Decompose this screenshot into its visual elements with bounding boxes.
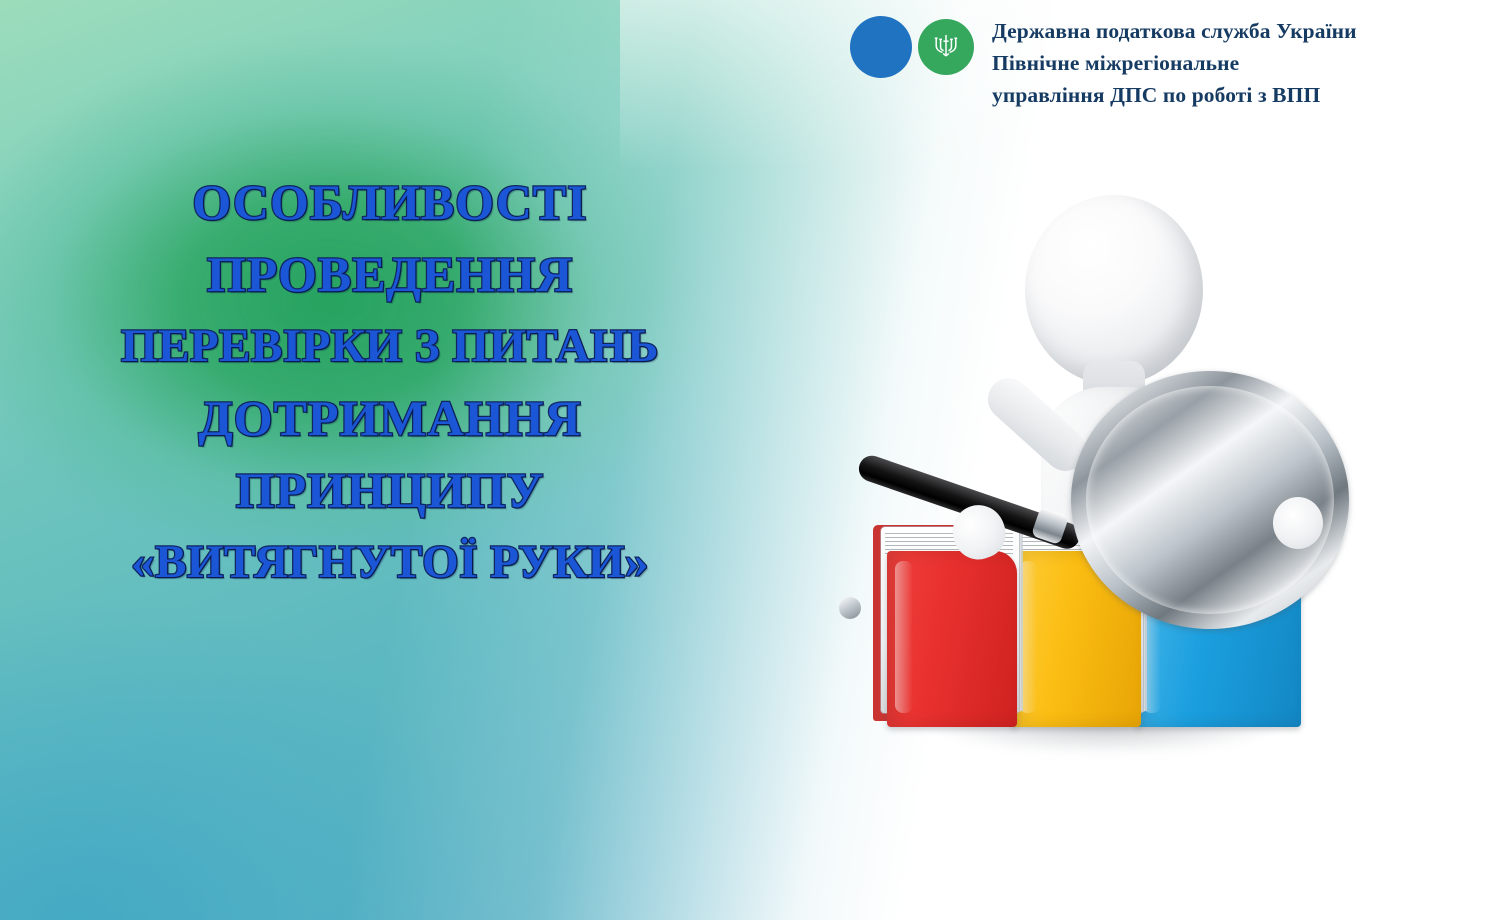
- title-line-4: ДОТРИМАННЯ: [40, 382, 740, 454]
- organisation-line-3: управління ДПС по роботі з ВПП: [992, 80, 1357, 110]
- illustration-3d-inspector: [845, 175, 1365, 815]
- organisation-name-block: Державна податкова служба України Північ…: [992, 8, 1357, 110]
- agency-logo: [850, 16, 974, 78]
- organisation-header: Державна податкова служба України Північ…: [850, 8, 1357, 110]
- organisation-line-2: Північне міжрегіональне: [992, 48, 1357, 78]
- title-line-2: ПРОВЕДЕННЯ: [40, 238, 740, 310]
- folder-red-front: [887, 551, 1017, 727]
- title-line-1: ОСОБЛИВОСТІ: [40, 166, 740, 238]
- slide-title: ОСОБЛИВОСТІ ПРОВЕДЕННЯ ПЕРЕВІРКИ З ПИТАН…: [40, 166, 740, 598]
- ukrainian-trident-emblem-icon: [933, 32, 959, 62]
- title-line-6: «ВИТЯГНУТОЇ РУКИ»: [40, 526, 740, 598]
- figure-head: [1025, 195, 1203, 385]
- organisation-line-1: Державна податкова служба України: [992, 16, 1357, 46]
- logo-green-circle-icon: [918, 19, 974, 75]
- presentation-slide: Державна податкова служба України Північ…: [0, 0, 1500, 920]
- title-line-3: ПЕРЕВІРКИ З ПИТАНЬ: [40, 310, 740, 382]
- logo-blue-circle-icon: [850, 16, 912, 78]
- figure-right-hand: [1273, 497, 1323, 549]
- magnifying-glass-end-cap: [839, 597, 861, 619]
- title-line-5: ПРИНЦИПУ: [40, 454, 740, 526]
